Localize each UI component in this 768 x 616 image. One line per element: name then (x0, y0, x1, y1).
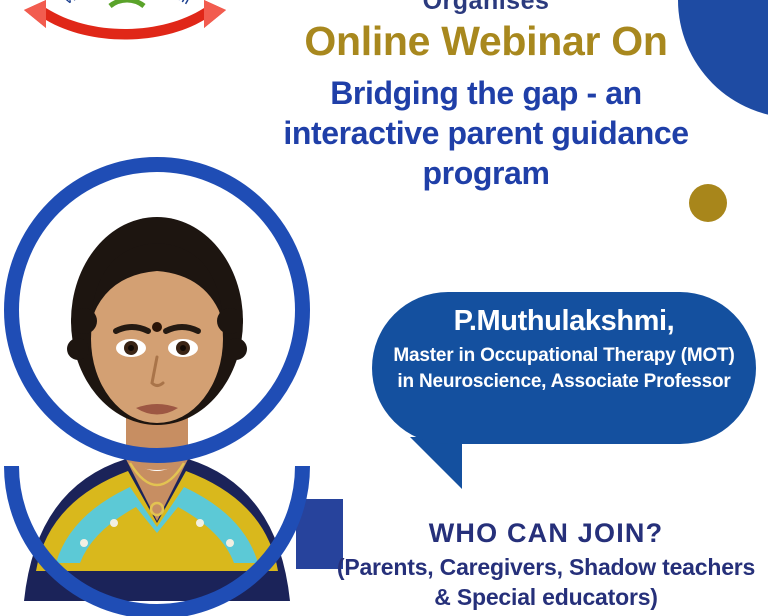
speech-bubble-tail (392, 437, 462, 489)
audience-detail-line-2: & Special educators) (330, 583, 762, 613)
speaker-portrait (4, 157, 320, 616)
webinar-topic: Bridging the gap - an interactive parent… (270, 73, 702, 193)
portrait-ring-upper (4, 157, 310, 463)
audience-detail-line-1: (Parents, Caregivers, Shadow teachers (330, 553, 762, 583)
speaker-name: P.Muthulakshmi, (380, 306, 748, 338)
logo-green-mark (110, 0, 144, 6)
webinar-title: Online Webinar On (276, 20, 696, 63)
audience-detail: (Parents, Caregivers, Shadow teachers & … (330, 553, 762, 613)
vision-india-foundation-logo: Vision India Foundation Empower Inspire … (10, 0, 240, 58)
speaker-info-card: P.Muthulakshmi, Master in Occupational T… (372, 292, 756, 444)
organises-label: Organises (286, 0, 686, 16)
speaker-credential-line-2: in Neuroscience, Associate Professor (380, 369, 748, 395)
speaker-credential-line-1: Master in Occupational Therapy (MOT) (380, 343, 748, 369)
webinar-poster: Vision India Foundation Empower Inspire … (0, 0, 768, 616)
audience-heading: WHO CAN JOIN? (336, 518, 756, 549)
